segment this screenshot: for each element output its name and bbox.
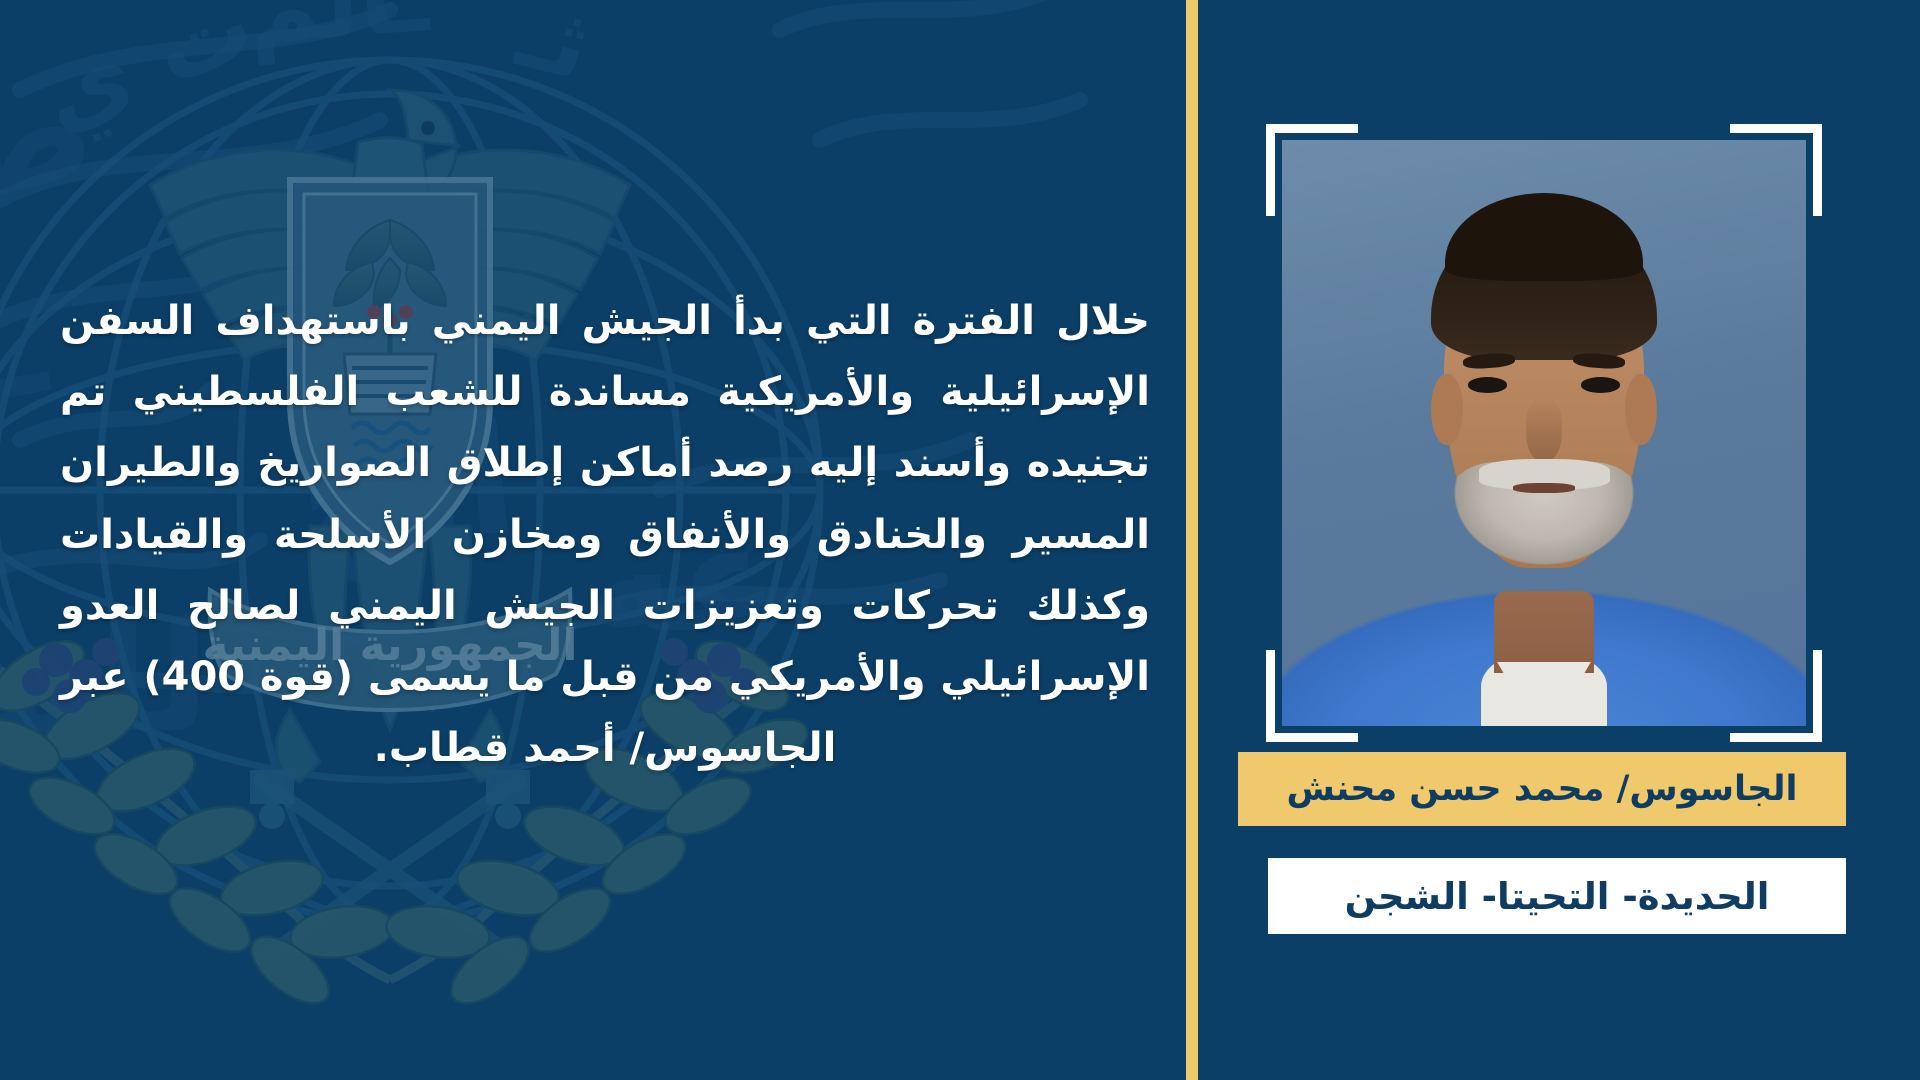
svg-text:ثـ: ثـ	[507, 0, 602, 102]
announcement-card: طبـ ـو ك للم الج عه	[0, 0, 1920, 1080]
svg-text:ـالم: ـالم	[244, 0, 433, 67]
name-banner-text: الجاسوس/ محمد حسن محنش	[1286, 769, 1797, 809]
mouth	[1513, 483, 1576, 492]
corner-bracket-top-left	[1266, 124, 1358, 216]
neck	[1494, 591, 1594, 673]
svg-text:ك: ك	[0, 393, 5, 584]
location-banner: الحديدة- التحيتا- الشجن	[1268, 858, 1846, 934]
nose	[1526, 398, 1563, 462]
corner-bracket-top-right	[1730, 124, 1822, 216]
svg-text:ت ي: ت ي	[25, 0, 269, 153]
corner-bracket-bottom-right	[1730, 650, 1822, 742]
vertical-divider	[1186, 0, 1198, 1080]
ear-left	[1431, 374, 1462, 444]
announcement-paragraph: خلال الفترة التي بدأ الجيش اليمني باستهد…	[60, 286, 1150, 784]
suspect-photo	[1282, 140, 1806, 726]
ear-right	[1625, 374, 1656, 444]
hair	[1431, 213, 1656, 360]
name-banner: الجاسوس/ محمد حسن محنش	[1238, 752, 1846, 826]
paragraph-text: خلال الفترة التي بدأ الجيش اليمني باستهد…	[60, 286, 1150, 784]
profile-panel: الجاسوس/ محمد حسن محنش الحديدة- التحيتا-…	[1198, 0, 1920, 1080]
svg-text:طبـ: طبـ	[0, 36, 109, 267]
svg-text:ـو: ـو	[0, 254, 58, 453]
location-banner-text: الحديدة- التحيتا- الشجن	[1345, 875, 1770, 918]
photo-frame	[1282, 140, 1806, 726]
eye-right	[1581, 377, 1620, 392]
corner-bracket-bottom-left	[1266, 650, 1358, 742]
eye-left	[1468, 377, 1507, 392]
